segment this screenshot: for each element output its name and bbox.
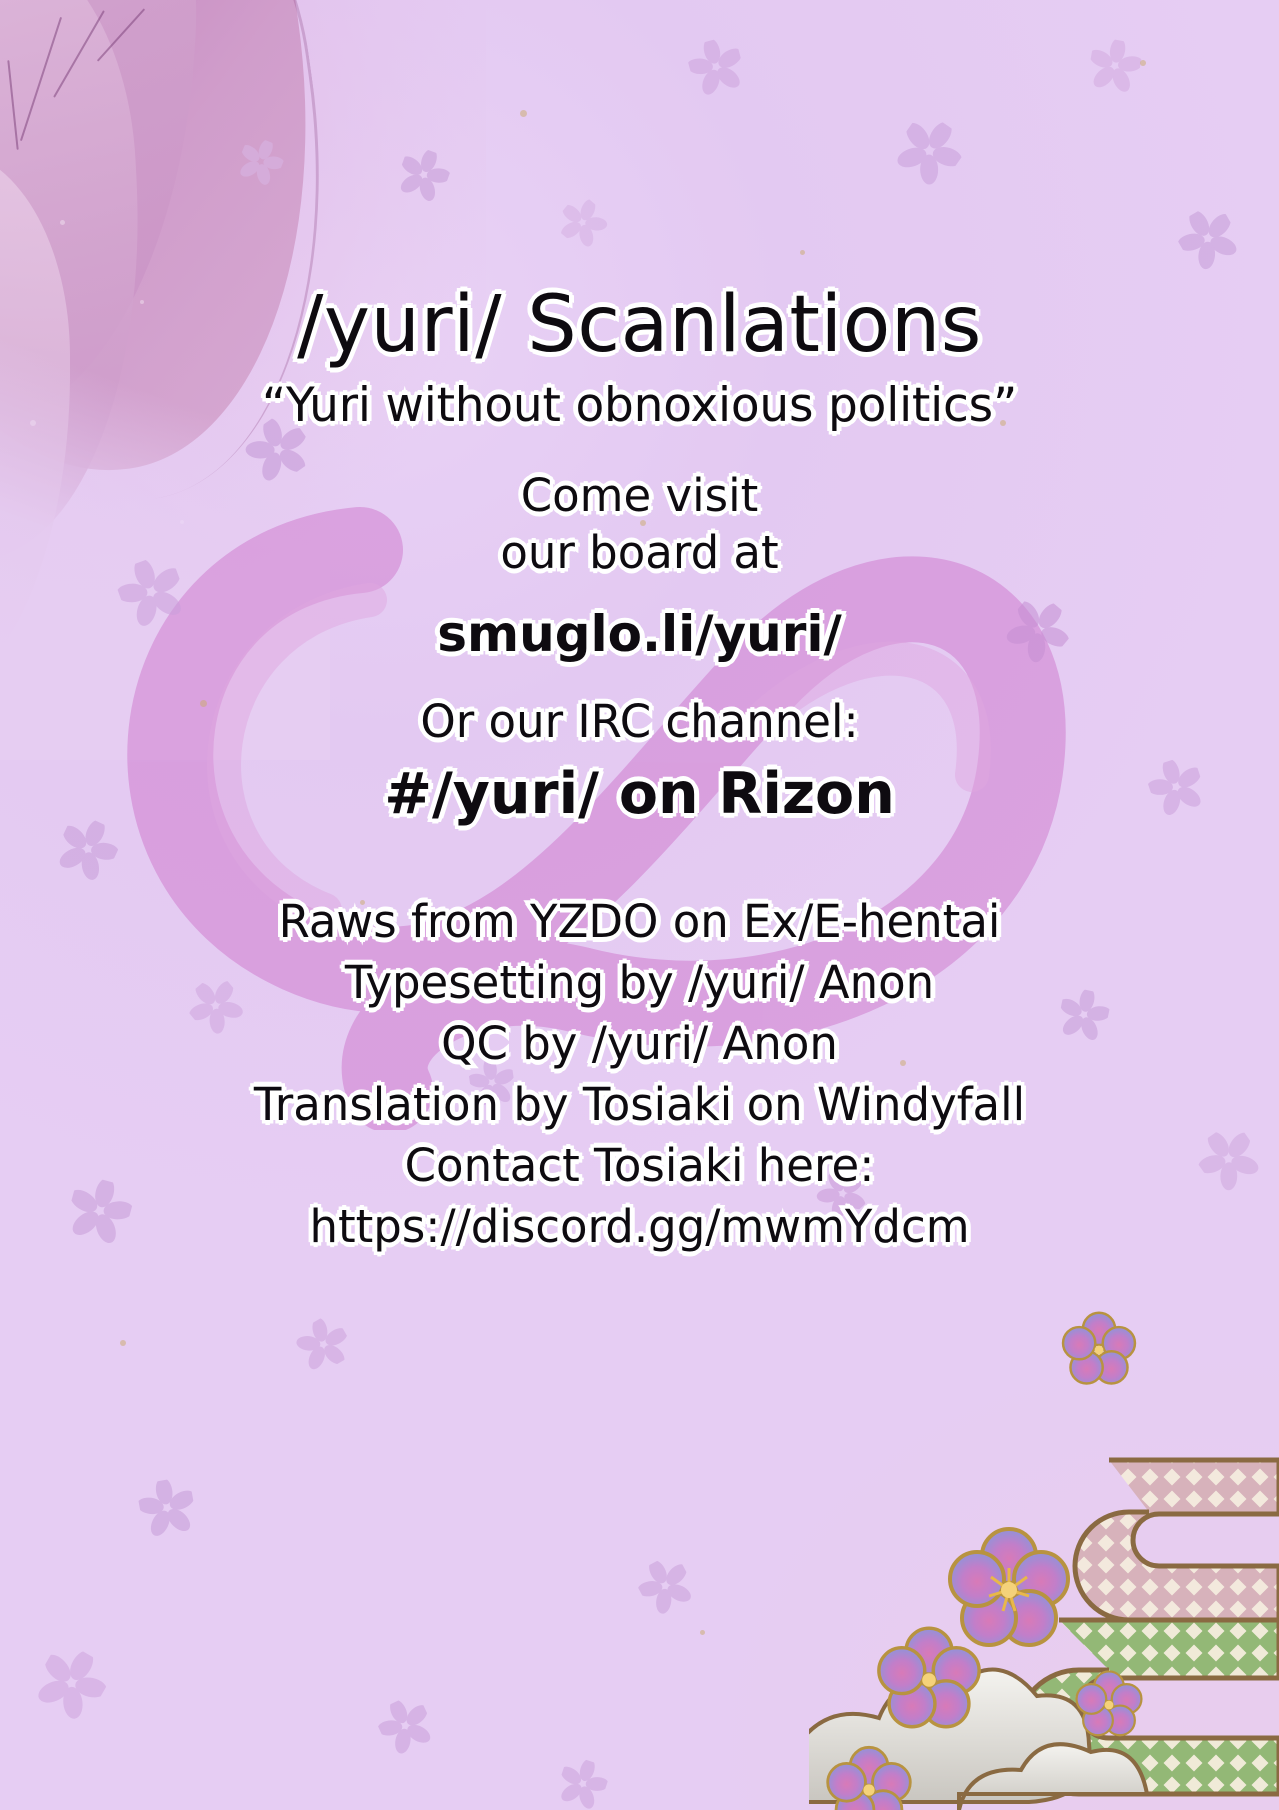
background-tint-bottom-right [703, 1339, 1279, 1810]
discord-invite-link[interactable]: https://discord.gg/mwmYdcm [0, 1204, 1279, 1249]
visit-line-1: Come visit [0, 473, 1279, 518]
credit-line: Translation by Tosiaki on Windyfall [0, 1082, 1279, 1127]
credits-list: Raws from YZDO on Ex/E-hentai Typesettin… [0, 899, 1279, 1249]
credit-line: Contact Tosiaki here: [0, 1143, 1279, 1188]
credits-page: /yuri/ Scanlations “Yuri without obnoxio… [0, 0, 1279, 1810]
credit-line: Typesetting by /yuri/ Anon [0, 960, 1279, 1005]
irc-label: Or our IRC channel: [0, 699, 1279, 744]
credit-line: QC by /yuri/ Anon [0, 1021, 1279, 1066]
irc-channel: #/yuri/ on Rizon [0, 766, 1279, 823]
page-subtitle: “Yuri without obnoxious politics” [0, 382, 1279, 429]
credits-content: /yuri/ Scanlations “Yuri without obnoxio… [0, 0, 1279, 1249]
visit-line-2: our board at [0, 530, 1279, 575]
page-title: /yuri/ Scanlations [0, 286, 1279, 364]
board-url-link[interactable]: smuglo.li/yuri/ [0, 609, 1279, 659]
credit-line: Raws from YZDO on Ex/E-hentai [0, 899, 1279, 944]
